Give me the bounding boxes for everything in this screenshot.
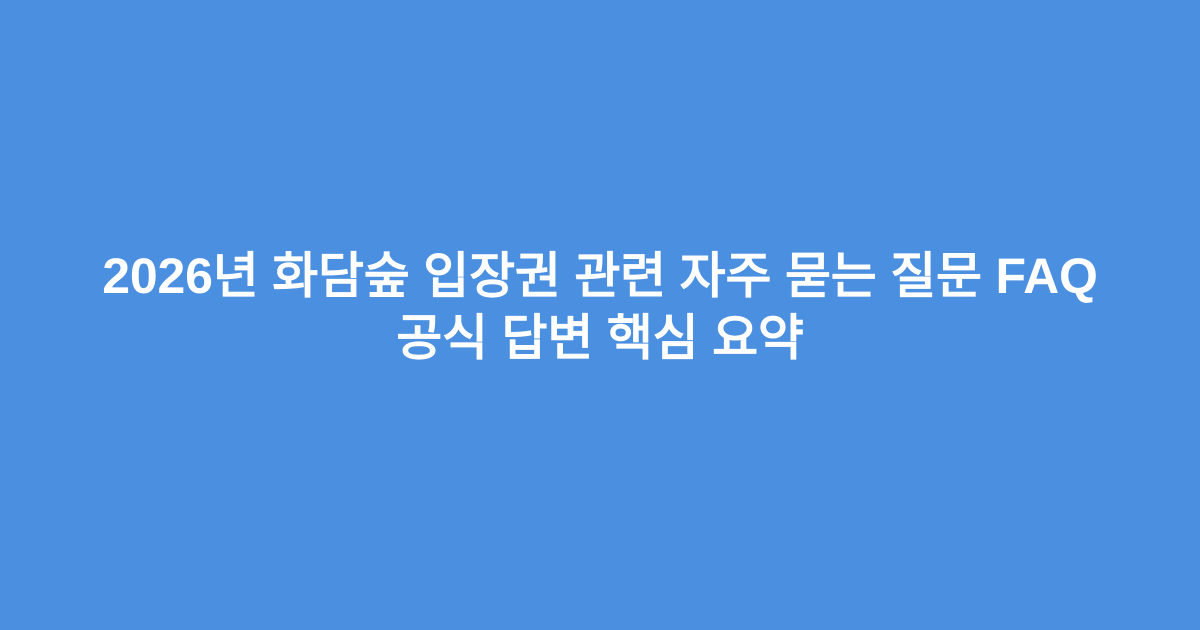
headline-block: 2026년 화담숲 입장권 관련 자주 묻는 질문 FAQ 공식 답변 핵심 요… [70,245,1130,369]
headline-line-2: 공식 답변 핵심 요약 [90,307,1110,369]
social-share-card: 2026년 화담숲 입장권 관련 자주 묻는 질문 FAQ 공식 답변 핵심 요… [0,0,1200,630]
headline-line-1: 2026년 화담숲 입장권 관련 자주 묻는 질문 FAQ [90,245,1110,307]
